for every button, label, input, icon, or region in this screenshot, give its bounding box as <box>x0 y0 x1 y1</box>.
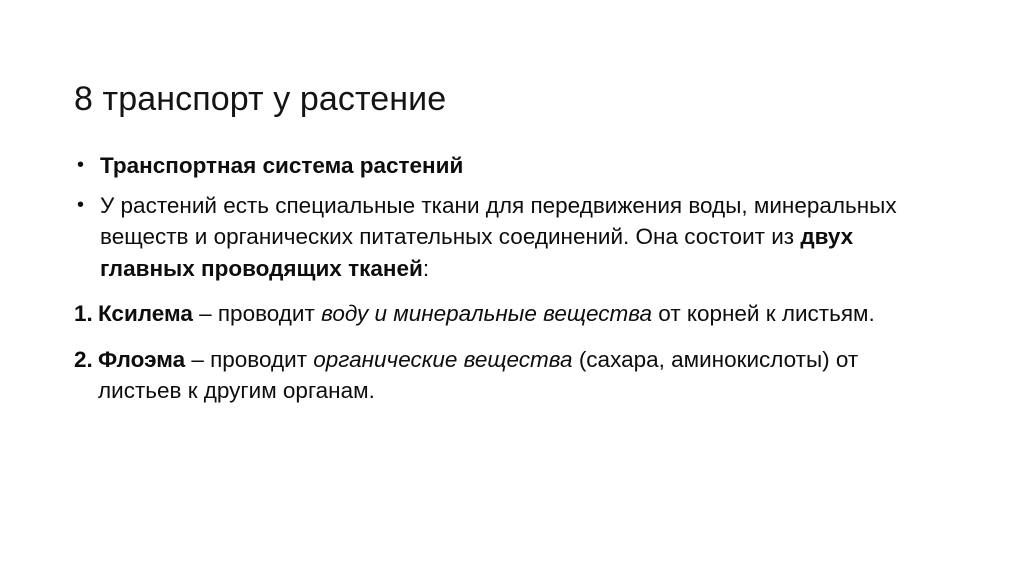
numbered-item-2-text: Флоэма – проводит органические вещества … <box>98 347 858 404</box>
numbered-item-1: 1. Ксилема – проводит воду и минеральные… <box>74 298 942 330</box>
bullet-marker-icon: • <box>77 190 97 222</box>
bullet-item-1: • Транспортная система растений <box>74 150 942 182</box>
run-bold: Транспортная система растений <box>100 153 463 178</box>
run-bold: Флоэма <box>98 347 185 372</box>
run-regular: от корней к листьям. <box>652 301 875 326</box>
run-bold: Ксилема <box>98 301 193 326</box>
run-italic: органические вещества <box>313 347 572 372</box>
bullet-item-1-text: Транспортная система растений <box>100 153 463 178</box>
run-italic: воду и минеральные вещества <box>321 301 652 326</box>
numbered-item-1-text: Ксилема – проводит воду и минеральные ве… <box>98 301 875 326</box>
run-regular: У растений есть специальные ткани для пе… <box>100 193 897 250</box>
slide-canvas: 8 транспорт у растение • Транспортная си… <box>0 0 1024 574</box>
run-regular: – проводит <box>193 301 321 326</box>
run-regular: : <box>423 256 429 281</box>
page-title: 8 транспорт у растение <box>74 80 954 119</box>
bullet-item-2-text: У растений есть специальные ткани для пе… <box>100 193 897 281</box>
list-number-1: 1. <box>74 298 93 330</box>
list-number-2: 2. <box>74 344 93 376</box>
bullet-marker-icon: • <box>77 150 97 182</box>
run-regular: – проводит <box>185 347 313 372</box>
bullet-item-2: • У растений есть специальные ткани для … <box>74 190 942 285</box>
numbered-item-2: 2. Флоэма – проводит органические вещест… <box>74 344 942 407</box>
slide-body-text: • Транспортная система растений • У раст… <box>74 150 942 407</box>
